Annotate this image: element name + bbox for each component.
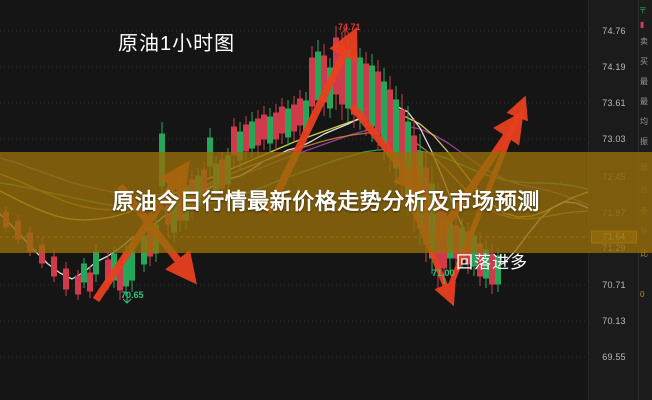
side-panel-row: 振	[640, 136, 648, 147]
price-tick: 69.55	[589, 352, 639, 362]
side-panel-row: 最	[640, 76, 648, 87]
side-panel-row: ╤	[640, 4, 646, 13]
side-panel-row: 0	[640, 290, 644, 299]
price-tick: 73.61	[589, 98, 639, 108]
overlay-title: 原油今日行情最新价格走势分析及市场预测	[0, 152, 652, 253]
price-tick: 73.03	[589, 134, 639, 144]
price-tick: 70.13	[589, 316, 639, 326]
price-tick: 70.71	[589, 280, 639, 290]
side-panel-row: 买	[640, 56, 648, 67]
side-panel-row: ▮	[640, 20, 644, 29]
side-panel-row: 卖	[640, 36, 648, 47]
crude-oil-chart-screenshot: 原油1小时图 74.71 74.76 74.19 73.61 73.03 72.…	[0, 0, 652, 400]
side-panel-row: 均	[640, 116, 648, 127]
price-tick: 74.76	[589, 26, 639, 36]
side-panel-row: 最	[640, 96, 648, 107]
price-tick: 74.19	[589, 62, 639, 72]
